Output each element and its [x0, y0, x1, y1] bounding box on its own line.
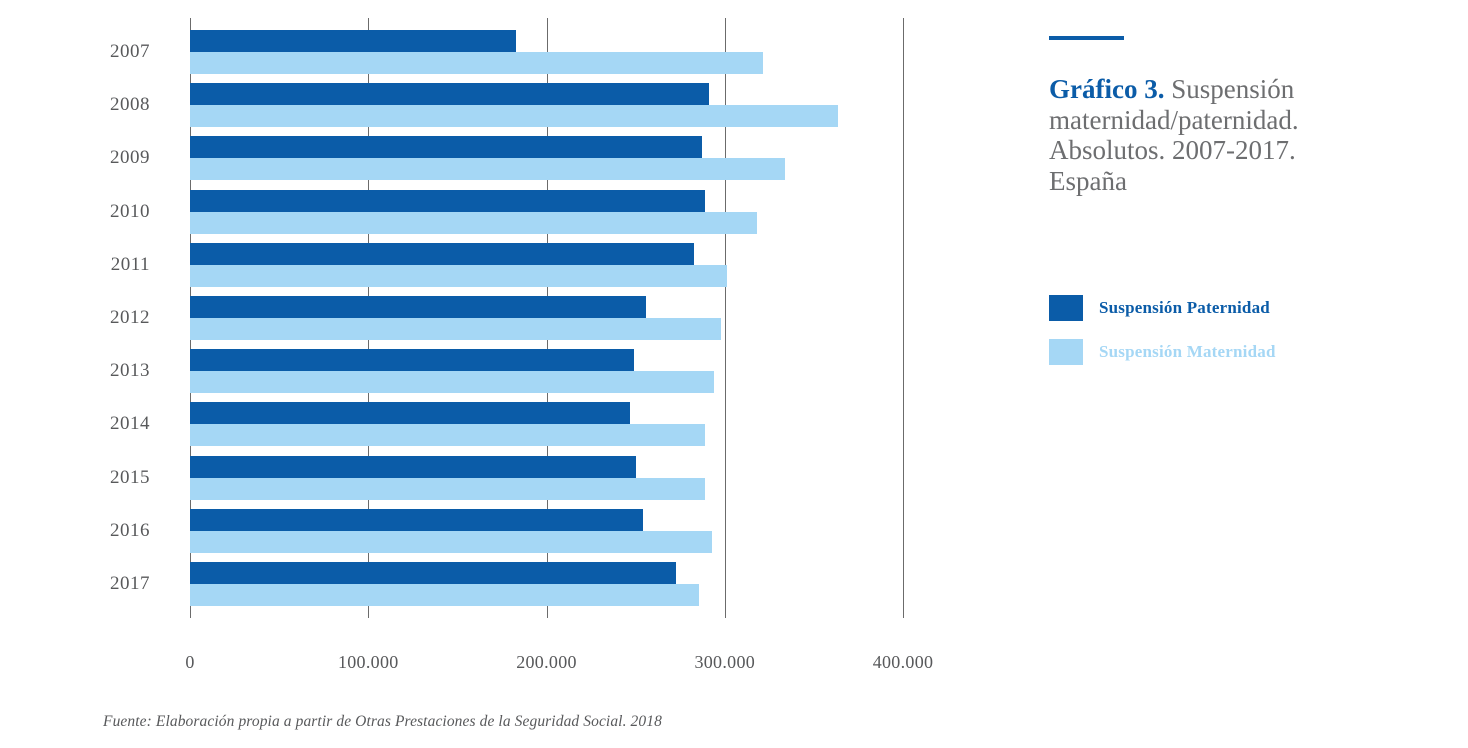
bar-suspensi-n-maternidad-2012: [190, 318, 721, 340]
bar-group: [190, 402, 903, 455]
bar-suspensi-n-maternidad-2011: [190, 265, 727, 287]
bar-group: [190, 509, 903, 562]
bar-suspensi-n-maternidad-2015: [190, 478, 705, 500]
y-tick-label: 2010: [0, 190, 170, 243]
bar-group: [190, 349, 903, 402]
bar-group: [190, 296, 903, 349]
bar-suspensi-n-paternidad-2009: [190, 136, 702, 158]
bar-suspensi-n-paternidad-2016: [190, 509, 643, 531]
bar-suspensi-n-maternidad-2016: [190, 531, 712, 553]
y-tick-label: 2009: [0, 136, 170, 189]
legend-label-maternidad: Suspensión Maternidad: [1099, 342, 1276, 362]
y-tick-label: 2015: [0, 456, 170, 509]
x-axis-labels: 0100.000200.000300.000400.000: [190, 652, 903, 676]
y-tick-label: 2013: [0, 349, 170, 402]
bar-suspensi-n-maternidad-2014: [190, 424, 705, 446]
bar-suspensi-n-paternidad-2017: [190, 562, 676, 584]
bar-suspensi-n-paternidad-2008: [190, 83, 709, 105]
x-tick-label: 200.000: [516, 652, 577, 673]
bar-group: [190, 243, 903, 296]
legend-label-paternidad: Suspensión Paternidad: [1099, 298, 1270, 318]
plot-area: [190, 18, 903, 618]
bar-suspensi-n-maternidad-2008: [190, 105, 838, 127]
bar-suspensi-n-paternidad-2013: [190, 349, 634, 371]
bar-group: [190, 83, 903, 136]
y-tick-label: 2011: [0, 243, 170, 296]
bar-suspensi-n-maternidad-2010: [190, 212, 757, 234]
y-tick-label: 2012: [0, 296, 170, 349]
bar-suspensi-n-paternidad-2015: [190, 456, 636, 478]
page-title: Gráfico 3. Suspensión maternidad/paterni…: [1049, 74, 1309, 196]
chart-area: 2007200820092010201120122013201420152016…: [0, 0, 1030, 748]
bar-suspensi-n-maternidad-2009: [190, 158, 785, 180]
x-tick-label: 100.000: [338, 652, 399, 673]
side-panel: Gráfico 3. Suspensión maternidad/paterni…: [1049, 0, 1449, 748]
bar-suspensi-n-paternidad-2014: [190, 402, 630, 424]
bar-group: [190, 456, 903, 509]
bar-suspensi-n-paternidad-2011: [190, 243, 694, 265]
gridline-400000: [903, 18, 904, 618]
bar-suspensi-n-maternidad-2013: [190, 371, 714, 393]
x-tick-label: 0: [185, 652, 194, 673]
bar-group: [190, 190, 903, 243]
bar-group: [190, 136, 903, 189]
legend-item-paternidad: Suspensión Paternidad: [1049, 290, 1379, 326]
x-tick-label: 400.000: [873, 652, 934, 673]
accent-rule: [1049, 36, 1124, 40]
bar-suspensi-n-paternidad-2007: [190, 30, 516, 52]
chart-number: Gráfico 3.: [1049, 74, 1164, 104]
y-tick-label: 2017: [0, 562, 170, 615]
y-axis-labels: 2007200820092010201120122013201420152016…: [0, 30, 170, 615]
y-tick-label: 2007: [0, 30, 170, 83]
bar-suspensi-n-maternidad-2007: [190, 52, 763, 74]
bar-suspensi-n-paternidad-2010: [190, 190, 705, 212]
legend-swatch-maternidad: [1049, 339, 1083, 365]
bar-group: [190, 562, 903, 615]
bar-group: [190, 30, 903, 83]
legend-item-maternidad: Suspensión Maternidad: [1049, 334, 1379, 370]
y-tick-label: 2014: [0, 402, 170, 455]
bar-suspensi-n-paternidad-2012: [190, 296, 646, 318]
x-tick-label: 300.000: [694, 652, 755, 673]
legend: Suspensión PaternidadSuspensión Maternid…: [1049, 290, 1379, 378]
bar-rows: [190, 30, 903, 615]
y-tick-label: 2008: [0, 83, 170, 136]
legend-swatch-paternidad: [1049, 295, 1083, 321]
source-note: Fuente: Elaboración propia a partir de O…: [103, 713, 662, 731]
bar-suspensi-n-maternidad-2017: [190, 584, 699, 606]
y-tick-label: 2016: [0, 509, 170, 562]
